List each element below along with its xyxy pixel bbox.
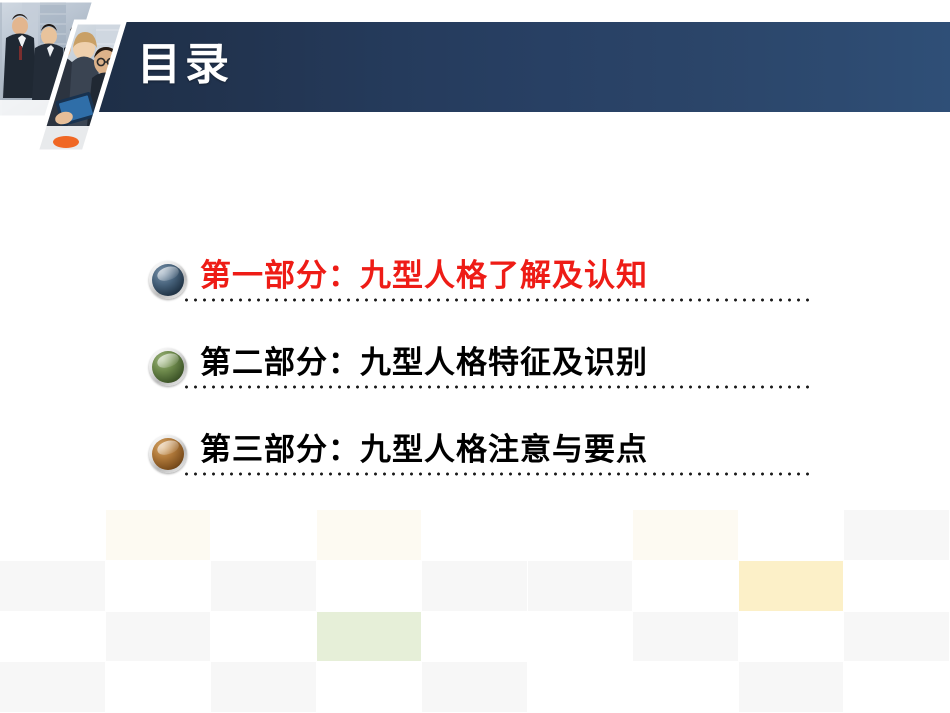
- glossy-sphere-blue-icon: [149, 261, 187, 299]
- checker-cell: [317, 662, 422, 712]
- photo-collage-icon: [0, 0, 135, 152]
- checker-cell: [633, 510, 738, 560]
- checker-cell: [528, 561, 633, 611]
- checker-pattern-icon: [0, 510, 950, 713]
- page-title: 目录: [137, 36, 233, 94]
- checker-cell: [422, 561, 527, 611]
- toc-item-3-leader: [182, 472, 812, 476]
- checker-cell: [317, 612, 422, 662]
- glossy-sphere-green-icon: [149, 348, 187, 386]
- checker-cell: [633, 612, 738, 662]
- checker-cell: [211, 612, 316, 662]
- toc-item-3-label: 第三部分：九型人格注意与要点: [200, 426, 648, 473]
- checker-cell: [0, 662, 105, 712]
- checker-cell: [0, 612, 105, 662]
- checker-cell: [844, 510, 949, 560]
- checker-cell: [528, 510, 633, 560]
- toc-item-2-label: 第二部分：九型人格特征及识别: [200, 339, 648, 386]
- checker-cell: [844, 612, 949, 662]
- checker-cell: [317, 510, 422, 560]
- checker-cell: [844, 561, 949, 611]
- toc-item-1[interactable]: 第一部分：九型人格了解及认知: [0, 240, 950, 327]
- checker-cell: [211, 510, 316, 560]
- checker-cell: [739, 561, 844, 611]
- checker-cell: [422, 662, 527, 712]
- checker-cell: [0, 510, 105, 560]
- checker-cell: [106, 662, 211, 712]
- checker-cell: [739, 612, 844, 662]
- checker-cell: [317, 561, 422, 611]
- checker-cell: [106, 510, 211, 560]
- toc-item-1-leader: [182, 298, 812, 302]
- checker-cell: [211, 561, 316, 611]
- toc-item-2[interactable]: 第二部分：九型人格特征及识别: [0, 327, 950, 414]
- glossy-sphere-brown-icon: [149, 435, 187, 473]
- checker-cell: [0, 561, 105, 611]
- checker-cell: [422, 510, 527, 560]
- toc-item-1-label: 第一部分：九型人格了解及认知: [200, 252, 648, 299]
- checker-cell: [211, 662, 316, 712]
- checker-cell: [106, 612, 211, 662]
- checker-cell: [844, 662, 949, 712]
- checker-cell: [739, 510, 844, 560]
- checker-cell: [633, 662, 738, 712]
- toc-item-3[interactable]: 第三部分：九型人格注意与要点: [0, 414, 950, 501]
- checker-cell: [528, 662, 633, 712]
- checker-cell: [528, 612, 633, 662]
- toc-list: 第一部分：九型人格了解及认知 第二部分：九型人格特征及识别 第三部分：九型人格注…: [0, 240, 950, 501]
- checker-cell: [422, 612, 527, 662]
- checker-cell: [633, 561, 738, 611]
- checker-cell: [739, 662, 844, 712]
- slide-canvas: 目录: [0, 0, 950, 713]
- toc-item-2-leader: [182, 385, 812, 389]
- checker-cell: [106, 561, 211, 611]
